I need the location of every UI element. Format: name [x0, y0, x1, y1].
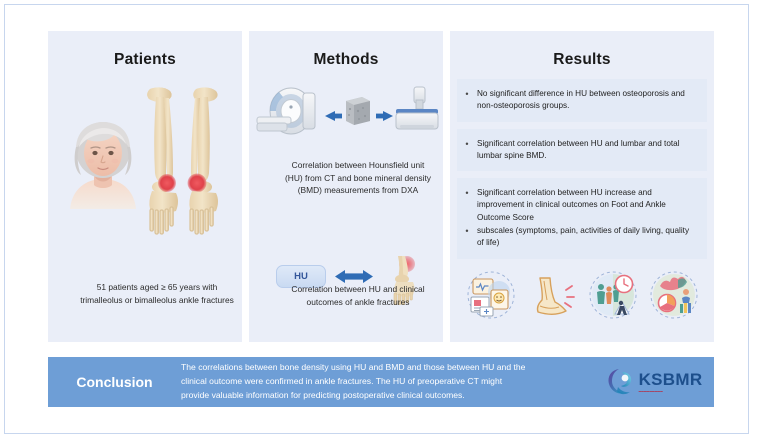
- methods-caption2-line2: outcomes of ankle fractures: [261, 296, 455, 309]
- conclusion-line2: clinical outcome were confirmed in ankle…: [181, 375, 586, 389]
- medical-records-icon: [465, 270, 517, 320]
- left-leg-skeleton: [147, 87, 178, 234]
- results-outcome-icons: [450, 266, 714, 320]
- conclusion-line3: provide valuable information for predict…: [181, 389, 586, 403]
- patients-illustration: [48, 75, 242, 245]
- abstract-columns: Patients: [48, 31, 714, 342]
- ct-bone-dxa-diagram: [249, 81, 443, 143]
- result-bullet: • No significant difference in HU betwee…: [464, 88, 698, 113]
- ksbmr-logo-subtitle: ▬▬▬▬▬▬▬▬▬: [639, 390, 663, 393]
- result-bullet-text: Significant correlation between HU and l…: [477, 138, 698, 163]
- methods-caption-2: Correlation between HU and clinical outc…: [249, 283, 467, 308]
- result-box-2: • Significant correlation between HU and…: [457, 129, 707, 172]
- quality-of-life-icon: [648, 270, 700, 320]
- methods-caption-1: Correlation between Hounsfield unit (HU)…: [249, 159, 467, 197]
- conclusion-label: Conclusion: [48, 374, 181, 390]
- bone-cube-sample-icon: [346, 97, 370, 125]
- poster-frame: Patients: [4, 4, 749, 434]
- result-box-3: • Significant correlation between HU inc…: [457, 178, 707, 258]
- patients-caption-line1: 51 patients aged ≥ 65 years with: [60, 281, 254, 294]
- result-bullet: • Significant correlation between HU and…: [464, 138, 698, 163]
- patients-caption-line2: trimalleolus or bimalleolus ankle fractu…: [60, 294, 254, 307]
- panel-title-methods: Methods: [249, 31, 443, 69]
- foot-ankle-pain-icon: [526, 270, 578, 320]
- conclusion-bar: Conclusion The correlations between bone…: [48, 357, 714, 407]
- ksbmr-logo-text: KSBMR: [639, 371, 703, 388]
- panel-title-patients: Patients: [48, 31, 242, 69]
- conclusion-line1: The correlations between bone density us…: [181, 361, 586, 375]
- result-box-1: • No significant difference in HU betwee…: [457, 79, 707, 122]
- bullet-dot-icon: •: [464, 225, 470, 238]
- panel-patients: Patients: [48, 31, 242, 342]
- conclusion-text: The correlations between bone density us…: [181, 361, 594, 403]
- double-arrow-icon: [335, 270, 373, 283]
- leg-skeleton-pair-with-ankle-fracture-illustration: [136, 83, 234, 243]
- panel-methods: Methods: [249, 31, 443, 342]
- result-bullet-text: Significant correlation between HU incre…: [477, 187, 698, 224]
- bullet-dot-icon: •: [464, 138, 470, 151]
- methods-caption1-line2: (HU) from CT and bone mineral density: [261, 172, 455, 185]
- dxa-scanner-icon: [396, 87, 438, 129]
- bullet-dot-icon: •: [464, 187, 470, 200]
- methods-caption2-line1: Correlation between HU and clinical: [261, 283, 455, 296]
- result-bullet-text: No significant difference in HU between …: [477, 88, 698, 113]
- arrow-left-icon: [325, 111, 342, 121]
- patients-caption: 51 patients aged ≥ 65 years with trimall…: [48, 281, 266, 306]
- right-leg-skeleton: [188, 87, 219, 234]
- arrow-right-icon: [376, 111, 393, 121]
- daily-activities-icon: [587, 270, 639, 320]
- bullet-dot-icon: •: [464, 88, 470, 101]
- methods-illustration-ct-dxa: [249, 81, 443, 143]
- ksbmr-logo: KSBMR ▬▬▬▬▬▬▬▬▬: [594, 367, 714, 397]
- result-bullet-text: subscales (symptoms, pain, activities of…: [477, 225, 698, 250]
- result-bullet: • subscales (symptoms, pain, activities …: [464, 225, 698, 250]
- panel-results: Results • No significant difference in H…: [450, 31, 714, 342]
- ct-scanner-icon: [257, 88, 315, 134]
- ksbmr-swirl-logo-icon: [606, 367, 636, 397]
- methods-caption1-line3: (BMD) measurements from DXA: [261, 184, 455, 197]
- panel-title-results: Results: [450, 31, 714, 69]
- methods-caption1-line1: Correlation between Hounsfield unit: [261, 159, 455, 172]
- result-bullet: • Significant correlation between HU inc…: [464, 187, 698, 224]
- elderly-woman-illustration: [64, 117, 142, 209]
